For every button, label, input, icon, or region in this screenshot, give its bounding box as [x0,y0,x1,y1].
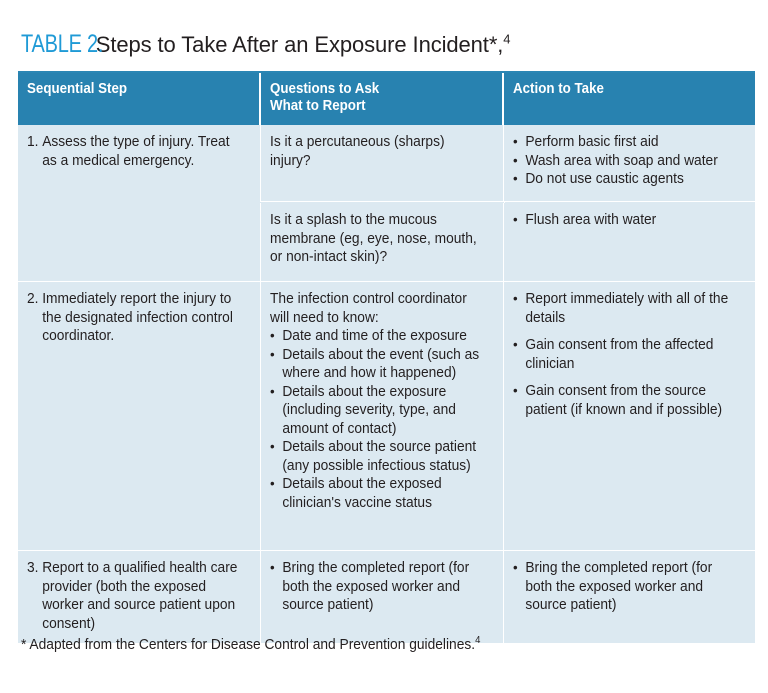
cell-question: Bring the completed report (for both the… [261,551,504,643]
cell-action: Flush area with water [504,203,755,281]
action-list: Bring the completed report (for both the… [513,559,733,615]
table-body: 1. Assess the type of injury. Treat as a… [18,125,755,643]
list-item: Bring the completed report (for both the… [270,559,482,615]
page-title: TABLE 2.Steps to Take After an Exposure … [21,30,751,59]
step-number: 3. [27,559,42,633]
cell-question: Is it a percutaneous (sharps) injury? [261,125,504,201]
step-text: Assess the type of injury. Treat as a me… [42,133,239,170]
list-item: Report immediately with all of the detai… [513,290,733,327]
action-list: Flush area with water [513,211,733,230]
divider-segment [18,201,261,202]
column-header-action-to-take-label: Action to Take [513,81,604,97]
cell-step: 2. Immediately report the injury to the … [18,282,261,550]
column-header-sequential-step-label: Sequential Step [27,81,127,97]
cell-step: 1. Assess the type of injury. Treat as a… [18,125,261,201]
footnote-text: * Adapted from the Centers for Disease C… [21,637,475,653]
list-item: Details about the exposure (including se… [270,383,482,439]
table-figure: TABLE 2.Steps to Take After an Exposure … [0,0,768,693]
table-row: Is it a splash to the mucous membrane (e… [18,203,755,281]
list-item: Do not use caustic agents [513,170,733,189]
question-text: Is it a splash to the mucous membrane (e… [270,212,477,265]
column-header-questions-to-ask: Questions to Ask What to Report [261,73,504,125]
footnote: * Adapted from the Centers for Disease C… [21,636,505,654]
list-item: Details about the event (such as where a… [270,346,482,383]
list-item: Gain consent from the source patient (if… [513,382,733,419]
list-item: Perform basic first aid [513,133,733,152]
question-text: Is it a percutaneous (sharps) injury? [270,134,445,169]
footnote-superscript: 4 [475,635,480,646]
list-item: Gain consent from the affected clinician [513,336,733,373]
action-list: Perform basic first aid Wash area with s… [513,133,733,189]
column-header-questions-line1: Questions to Ask [270,81,476,98]
column-header-action-to-take: Action to Take [504,73,755,125]
step-number: 1. [27,133,42,170]
cell-action: Perform basic first aid Wash area with s… [504,125,755,201]
data-table: Sequential Step Questions to Ask What to… [18,71,755,643]
cell-action: Report immediately with all of the detai… [504,282,755,550]
list-item: Details about the exposed clinician's va… [270,475,482,512]
cell-question: The infection control coordinator will n… [261,282,504,550]
action-list: Report immediately with all of the detai… [513,290,733,419]
question-list: Bring the completed report (for both the… [270,559,482,615]
cell-question: Is it a splash to the mucous membrane (e… [261,203,504,281]
step-text: Report to a qualified health care provid… [42,559,239,633]
table-row: 3. Report to a qualified health care pro… [18,550,755,643]
list-item: Bring the completed report (for both the… [513,559,733,615]
table-number-label: TABLE 2. [21,30,103,59]
column-header-sequential-step: Sequential Step [18,73,261,125]
table-row: 1. Assess the type of injury. Treat as a… [18,125,755,201]
table-row: 2. Immediately report the injury to the … [18,281,755,550]
step-text: Immediately report the injury to the des… [42,290,239,346]
list-item: Details about the source patient (any po… [270,438,482,475]
question-list: Date and time of the exposure Details ab… [270,327,482,512]
list-item: Date and time of the exposure [270,327,482,346]
column-header-questions-line2: What to Report [270,98,476,115]
table-header-row: Sequential Step Questions to Ask What to… [18,73,755,125]
cell-step-continued [18,203,261,281]
list-item: Wash area with soap and water [513,152,733,171]
table-title-superscript: 4 [503,32,510,47]
step-number: 2. [27,290,42,346]
list-item: Flush area with water [513,211,733,230]
cell-action: Bring the completed report (for both the… [504,551,755,643]
cell-step: 3. Report to a qualified health care pro… [18,551,261,643]
table-title-text: Steps to Take After an Exposure Incident… [96,32,511,58]
table-title-main: Steps to Take After an Exposure Incident… [96,32,504,57]
question-lead-text: The infection control coordinator will n… [270,290,482,327]
